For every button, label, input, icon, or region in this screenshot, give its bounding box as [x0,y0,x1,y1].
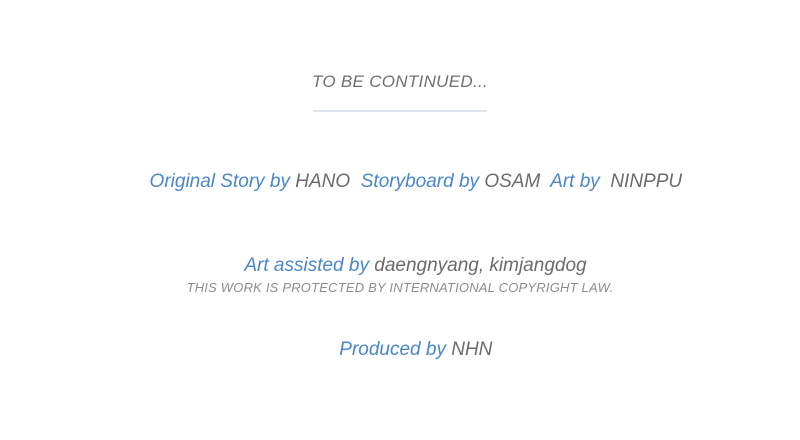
credit-name: HANO [295,171,350,192]
credit-name: NHN [451,339,492,360]
credit-role: Art by [550,171,600,192]
credit-space [600,171,611,192]
section-divider [313,110,487,112]
credit-segment-gap [350,171,361,192]
copyright-notice: THIS WORK IS PROTECTED BY INTERNATIONAL … [0,280,800,295]
credits-page: TO BE CONTINUED... Original Story by HAN… [0,0,800,440]
credit-name: OSAM [484,171,540,192]
credit-role: Original Story by [150,171,290,192]
credit-role: Produced by [339,339,446,360]
credits-block: Original Story by HANO Storyboard by OSA… [0,140,800,392]
credit-role: Storyboard by [361,171,479,192]
credit-name: NINPPU [610,171,682,192]
credit-line: Art assisted by daengnyang, kimjangdog [0,224,800,308]
to-be-continued-text: TO BE CONTINUED... [0,72,800,92]
credit-segment-gap [540,171,550,192]
credit-role: Art assisted by [244,255,369,276]
credit-line: Produced by NHN [0,308,800,392]
credit-name: daengnyang, kimjangdog [374,255,586,276]
credit-line: Original Story by HANO Storyboard by OSA… [0,140,800,224]
